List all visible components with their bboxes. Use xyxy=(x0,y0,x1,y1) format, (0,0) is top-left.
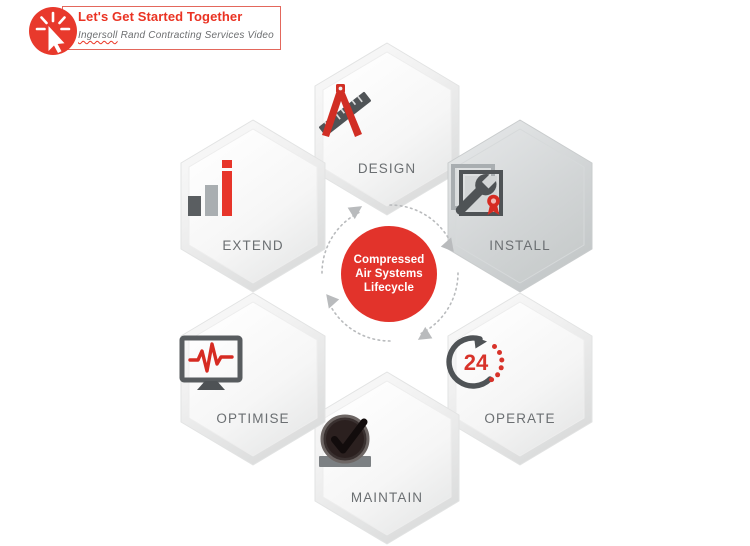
hex-node-operate[interactable]: 24 OPERATE xyxy=(443,291,597,467)
hex-label-maintain: MAINTAIN xyxy=(310,490,464,505)
lifecycle-center-hub[interactable]: Compressed Air Systems Lifecycle xyxy=(341,226,437,322)
svg-text:24: 24 xyxy=(464,350,489,375)
hex-node-optimise[interactable]: OPTIMISE xyxy=(176,291,330,467)
hex-label-install: INSTALL xyxy=(443,238,597,253)
hex-node-install[interactable]: INSTALL xyxy=(443,118,597,294)
hex-label-design: DESIGN xyxy=(310,161,464,176)
lifecycle-diagram: DESIGN xyxy=(0,0,750,544)
lifecycle-center-label: Compressed Air Systems Lifecycle xyxy=(354,253,425,295)
center-line-2: Air Systems xyxy=(354,267,425,281)
hex-label-operate: OPERATE xyxy=(443,411,597,426)
center-line-3: Lifecycle xyxy=(354,281,425,295)
hex-label-extend: EXTEND xyxy=(176,238,330,253)
hex-node-extend[interactable]: EXTEND xyxy=(176,118,330,294)
hex-label-optimise: OPTIMISE xyxy=(176,411,330,426)
center-line-1: Compressed xyxy=(354,253,425,267)
hex-node-maintain[interactable]: MAINTAIN xyxy=(310,370,464,546)
hex-node-design[interactable]: DESIGN xyxy=(310,41,464,217)
